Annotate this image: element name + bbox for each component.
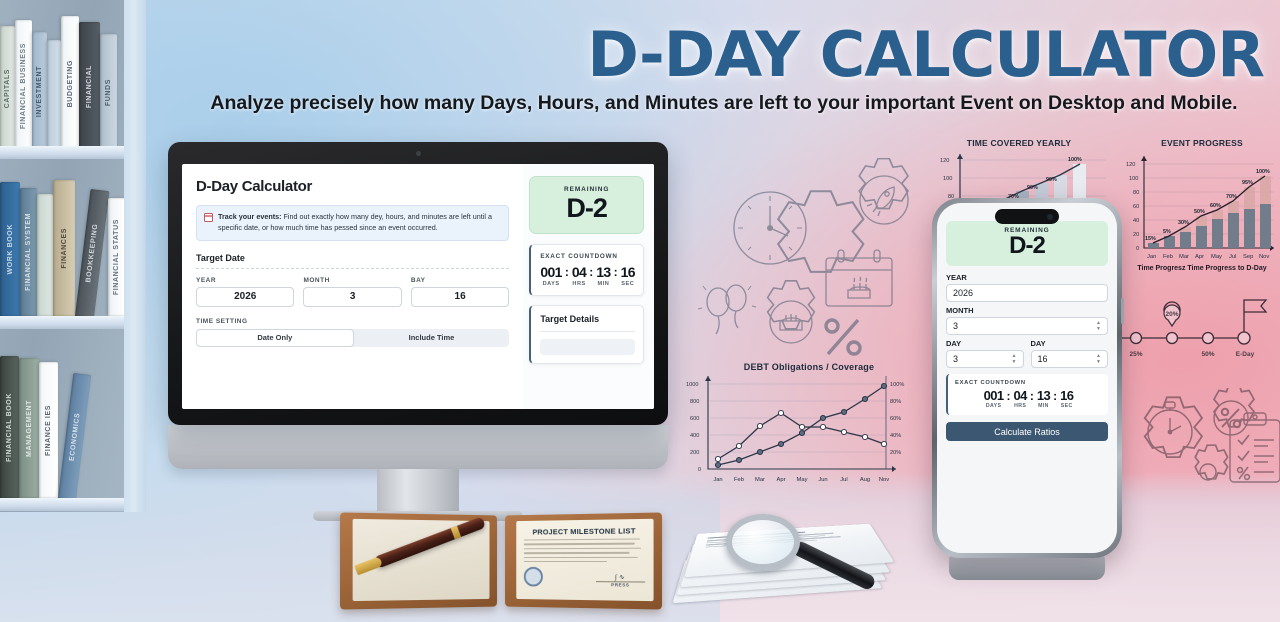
bar-label-3: 90% — [1027, 185, 1038, 191]
webcam-icon — [416, 151, 421, 156]
field-day: BAY 16 — [411, 277, 509, 307]
bookshelf: CAPITALS FINANCIAL BUSINESS INVESTMENT B… — [0, 0, 146, 512]
book: FINANCIAL — [79, 22, 100, 152]
bar-label-7: 100% — [1256, 169, 1270, 175]
ytick-20: 20 — [1133, 232, 1139, 238]
book: WORK BOOK — [0, 182, 20, 316]
calendar-icon — [204, 213, 213, 222]
countdown-seconds: 16 SEC — [621, 265, 635, 287]
balloons-icon — [698, 285, 756, 334]
doc-line — [524, 552, 630, 554]
calendar-cake-icon — [826, 250, 892, 306]
countdown-separator: : — [1006, 389, 1012, 403]
book: FINANCIAL SYSTEM — [20, 188, 37, 316]
bar-label-2: 30% — [1178, 220, 1189, 226]
countdown-separator: : — [588, 265, 594, 279]
countdown-row: 001 DAYS : 04 HRS : 13 — [540, 265, 635, 287]
mobile-countdown-minutes: 13 MIN — [1037, 389, 1050, 409]
toggle-include-time[interactable]: Include Time — [354, 329, 510, 347]
mobile-year-value: 2026 — [953, 288, 973, 298]
target-details-placeholder — [540, 339, 635, 355]
ytick-120: 120 — [940, 158, 949, 164]
countdown-value: 13 — [596, 265, 610, 279]
mobile-day-value-1: 3 — [953, 354, 958, 364]
target-details-title: Target Details — [540, 314, 635, 324]
mobile-day-field-1: DAY 3 ▲▼ — [946, 335, 1024, 368]
mobile-countdown-hours: 04 HRS — [1014, 389, 1027, 409]
chart-svg: 1000 800 600 400 200 0 100% 80% 60% 40% … — [682, 372, 910, 492]
ytick-120: 120 — [1126, 162, 1135, 168]
monitor-screen: D-Day Calculator Track your events: Find… — [182, 164, 654, 409]
xtick-2: Mar — [755, 477, 765, 483]
mobile-day-field-2: DAY 16 ▲▼ — [1031, 335, 1109, 368]
countdown-value: 04 — [1014, 389, 1027, 402]
shelf-board — [0, 146, 128, 159]
shelf-side-panel — [124, 0, 146, 512]
xtick-4: May — [1211, 254, 1222, 260]
countdown-separator: : — [1052, 389, 1058, 403]
monitor-chin — [168, 425, 668, 469]
monitor-bezel: D-Day Calculator Track your events: Find… — [168, 142, 668, 425]
chart-title: EVENT PROGRESS — [1124, 138, 1280, 148]
gear-icon — [1195, 445, 1227, 480]
ytick-100: 100 — [943, 176, 952, 182]
book: CAPITALS — [0, 26, 15, 152]
countdown-separator: : — [564, 265, 570, 279]
bars-lower — [1148, 204, 1271, 248]
phone-notch — [995, 209, 1059, 224]
ytick-80: 80 — [1133, 190, 1139, 196]
target-date-fields: YEAR 2026 MONTH 3 BAY 16 — [196, 277, 509, 307]
phone-body: REMAINING D-2 YEAR 2026 MONTH 3 ▲▼ DAY — [932, 198, 1122, 558]
mobile-countdown-card: EXACT COUNTDOWN 001 DAYS : 04 HRS : — [946, 374, 1108, 415]
bookshelf-row-bottom: FINANCIAL BOOK MANAGEMENT FINANCE IES EC… — [0, 348, 128, 498]
xtick-7: Nov — [1259, 254, 1269, 260]
countdown-suffix: DAYS — [984, 403, 1004, 409]
decor-icon-cluster-right — [1132, 388, 1280, 514]
countdown-days: 001 DAYS — [540, 265, 562, 287]
shelf-board — [0, 316, 128, 329]
countdown-suffix: MIN — [596, 281, 610, 287]
countdown-separator: : — [613, 265, 619, 279]
bookshelf-row-top: CAPITALS FINANCIAL BUSINESS INVESTMENT B… — [0, 18, 128, 152]
countdown-minutes: 13 MIN — [596, 265, 610, 287]
ytick-40: 40 — [1133, 218, 1139, 224]
target-date-label: Target Date — [196, 253, 509, 263]
document-title: PROJECT MILESTONE LIST — [524, 526, 645, 536]
ytick-400: 400 — [690, 433, 699, 439]
ytick-60: 60 — [1133, 204, 1139, 210]
field-year: YEAR 2026 — [196, 277, 294, 307]
magnifier-icon — [726, 514, 800, 570]
countdown-value: 16 — [621, 265, 635, 279]
book: MANAGEMENT — [19, 358, 39, 498]
divider — [540, 331, 635, 332]
timeline-node-eday — [1238, 332, 1250, 344]
book: INVESTMENT — [32, 32, 47, 152]
book: FUNDS — [100, 34, 117, 152]
countdown-label: EXACT COUNTDOWN — [540, 253, 635, 260]
poster-canvas: CAPITALS FINANCIAL BUSINESS INVESTMENT B… — [0, 0, 1280, 622]
clipboard-checklist-icon — [1230, 413, 1280, 482]
remaining-value: D-2 — [536, 195, 637, 222]
ytick-right-100: 100% — [890, 382, 904, 388]
mobile-remaining-card: REMAINING D-2 — [946, 221, 1108, 266]
timeline-pin-label: 20% — [1165, 311, 1178, 318]
milestone-timeline: 20% 25% 50% E-Day — [1108, 286, 1280, 370]
toggle-date-only[interactable]: Date Only — [196, 329, 354, 347]
doc-line — [524, 547, 642, 549]
chart-event-progress: EVENT PROGRESS 120 100 80 60 40 20 0 — [1124, 138, 1280, 278]
bar-label-1: 5% — [1163, 229, 1171, 235]
xtick-1: Feb — [734, 477, 744, 483]
notice-lead: Track your events: — [218, 212, 282, 221]
mobile-countdown-seconds: 16 SEC — [1060, 389, 1073, 409]
timeline-node — [1131, 333, 1142, 344]
phone-side-button[interactable] — [1121, 298, 1124, 324]
timeline-label-0: 25% — [1129, 351, 1142, 358]
field-month: MONTH 3 — [303, 277, 401, 307]
xtick-0: Jan — [1147, 254, 1156, 260]
doc-line — [524, 556, 638, 558]
day-input[interactable]: 16 — [411, 287, 509, 307]
time-setting-label: TIME SETTING — [196, 318, 509, 325]
book: FINANCIAL BUSINESS — [15, 20, 32, 152]
time-setting-toggle: Date Only Include Time — [196, 329, 509, 347]
xtick-4: May — [797, 477, 808, 483]
ytick-100: 100 — [1129, 176, 1138, 182]
rocket-in-gear-icon — [859, 159, 908, 225]
chart-svg: 120 100 80 60 40 20 0 — [1124, 148, 1280, 274]
timeline-label-2: 50% — [1201, 351, 1214, 358]
mobile-countdown-label: EXACT COUNTDOWN — [955, 380, 1102, 386]
mobile-day-value-2: 16 — [1038, 354, 1048, 364]
xtick-8: Nov — [879, 477, 889, 483]
chart-title: TIME COVERED YEARLY — [926, 138, 1112, 148]
countdown-value: 16 — [1060, 389, 1073, 402]
chart-debt-obligations: DEBT Obligations / Coverage 1000 800 600… — [682, 362, 910, 498]
stepper-icon[interactable]: ▲▼ — [1096, 354, 1101, 365]
cake-in-gear-icon — [768, 281, 815, 343]
mobile-day-row: DAY 3 ▲▼ DAY 16 ▲▼ — [946, 335, 1108, 368]
xtick-5: Jul — [1229, 254, 1236, 260]
bookshelf-row-mid: WORK BOOK FINANCIAL SYSTEM FINANCES BOOK… — [0, 176, 128, 316]
ytick-right-60: 60% — [890, 416, 901, 422]
book: FINANCES — [53, 180, 75, 316]
stepper-icon[interactable]: ▲▼ — [1012, 354, 1017, 365]
book: FINANCIAL STATUS — [108, 198, 125, 316]
countdown-suffix: MIN — [1037, 403, 1050, 409]
notice-text: Track your events: Find out exactly how … — [218, 212, 501, 234]
document-seal-icon — [524, 567, 543, 587]
flag-icon — [1244, 300, 1266, 332]
book: BOOKKEEPING — [75, 189, 109, 318]
milestone-document: PROJECT MILESTONE LIST ∫ ∿ PRESS — [516, 519, 653, 601]
divider — [196, 268, 509, 269]
desktop-app: D-Day Calculator Track your events: Find… — [182, 164, 654, 409]
track-events-notice: Track your events: Find out exactly how … — [196, 205, 509, 241]
shelf-board — [0, 498, 128, 511]
book: FINANCIAL BOOK — [0, 356, 19, 498]
field-label: YEAR — [196, 277, 294, 284]
countdown-separator: : — [1029, 389, 1035, 403]
stopwatch-in-gear-icon — [1145, 397, 1202, 457]
ytick-600: 600 — [690, 416, 699, 422]
desktop-monitor: D-Day Calculator Track your events: Find… — [168, 142, 668, 521]
folder-right-flap: PROJECT MILESTONE LIST ∫ ∿ PRESS — [505, 512, 662, 609]
doc-line — [524, 561, 608, 562]
mobile-countdown-days: 001 DAYS — [984, 389, 1004, 409]
doc-line — [524, 538, 640, 540]
countdown-value: 04 — [572, 265, 586, 279]
ytick-right-20: 20% — [890, 450, 901, 456]
mobile-day-input-2[interactable]: 16 ▲▼ — [1031, 350, 1109, 368]
field-label: BAY — [411, 277, 509, 284]
mobile-phone: REMAINING D-2 YEAR 2026 MONTH 3 ▲▼ DAY — [932, 198, 1122, 580]
countdown-hours: 04 HRS — [572, 265, 586, 287]
bar-label-3: 50% — [1194, 209, 1205, 215]
ytick-0: 0 — [698, 467, 701, 473]
xtick-6: Sep — [1243, 254, 1253, 260]
bar-label-6: 95% — [1242, 180, 1253, 186]
book — [37, 194, 53, 316]
folder-with-document: PROJECT MILESTONE LIST ∫ ∿ PRESS — [334, 506, 664, 616]
monitor-neck — [377, 469, 459, 511]
phone-screen: REMAINING D-2 YEAR 2026 MONTH 3 ▲▼ DAY — [937, 203, 1117, 553]
bar-label-5: 70% — [1226, 194, 1237, 200]
remaining-label: REMAINING — [536, 186, 637, 193]
front-camera-icon — [1047, 214, 1053, 220]
countdown-suffix: HRS — [1014, 403, 1027, 409]
calculate-ratios-button[interactable]: Calculate Ratios — [946, 422, 1108, 441]
mobile-day-label-2: DAY — [1031, 339, 1109, 348]
mobile-year-label: YEAR — [946, 273, 1108, 282]
book — [47, 40, 61, 152]
chart-caption: Time Progresz Time Progress to D-Day — [1137, 265, 1266, 272]
page-subtitle: Analyze precisely how many Days, Hours, … — [176, 92, 1272, 115]
mobile-countdown-row: 001 DAYS : 04 HRS : 13 MIN : — [955, 389, 1102, 409]
page-title: D-DAY CALCULATOR — [587, 24, 1264, 86]
year-input[interactable]: 2026 — [196, 287, 294, 307]
ytick-right-40: 40% — [890, 433, 901, 439]
bar-label-4: 60% — [1210, 203, 1221, 209]
xtick-1: Feb — [1163, 254, 1173, 260]
doc-line — [524, 543, 635, 545]
app-title: D-Day Calculator — [196, 178, 509, 195]
ytick-1000: 1000 — [686, 382, 698, 388]
countdown-suffix: HRS — [572, 281, 586, 287]
book: BUDGETING — [61, 16, 79, 152]
xtick-7: Aug — [860, 477, 870, 483]
timeline-label-eday: E-Day — [1236, 351, 1255, 358]
mobile-remaining-value: D-2 — [950, 234, 1104, 258]
timeline-node — [1203, 333, 1214, 344]
signature-label: PRESS — [596, 582, 645, 588]
bar-label-4: 90% — [1046, 177, 1057, 183]
ytick-800: 800 — [690, 399, 699, 405]
xtick-3: Apr — [1195, 254, 1204, 260]
chart-title: DEBT Obligations / Coverage — [682, 362, 910, 372]
app-right-panel: REMAINING D-2 EXACT COUNTDOWN 001 DAYS : — [523, 164, 654, 409]
percent-icon — [826, 320, 860, 354]
mobile-month-input[interactable]: 3 ▲▼ — [946, 317, 1108, 335]
mobile-day-input-1[interactable]: 3 ▲▼ — [946, 350, 1024, 368]
remaining-card: REMAINING D-2 — [529, 176, 644, 234]
countdown-suffix: SEC — [1060, 403, 1073, 409]
countdown-suffix: SEC — [621, 281, 635, 287]
countdown-value: 13 — [1037, 389, 1050, 402]
folder-left-flap — [340, 512, 497, 609]
countdown-value: 001 — [540, 265, 562, 279]
xtick-5: Jun — [818, 477, 827, 483]
decor-icon-cluster-left — [678, 158, 922, 362]
book: ECONOMICS — [58, 373, 91, 500]
percent-in-gear-icon — [1214, 388, 1254, 435]
bar-label-5: 100% — [1068, 157, 1082, 163]
mobile-day-label-1: DAY — [946, 339, 1024, 348]
papers-with-magnifier — [672, 500, 902, 616]
exact-countdown-card: EXACT COUNTDOWN 001 DAYS : 04 HRS — [529, 244, 644, 296]
ytick-200: 200 — [690, 450, 699, 456]
countdown-suffix: DAYS — [540, 281, 562, 287]
stepper-icon[interactable]: ▲▼ — [1096, 321, 1101, 332]
timeline-node — [1167, 333, 1178, 344]
book: FINANCE IES — [39, 362, 58, 498]
mobile-year-input[interactable]: 2026 — [946, 284, 1108, 302]
ytick-0: 0 — [1136, 246, 1139, 252]
ytick-right-80: 80% — [890, 399, 901, 405]
field-label: MONTH — [303, 277, 401, 284]
mobile-month-value: 3 — [953, 321, 958, 331]
app-left-panel: D-Day Calculator Track your events: Find… — [182, 164, 523, 409]
month-input[interactable]: 3 — [303, 287, 401, 307]
mobile-month-label: MONTH — [946, 306, 1108, 315]
xtick-2: Mar — [1179, 254, 1189, 260]
countdown-value: 001 — [984, 389, 1004, 402]
xtick-0: Jan — [713, 477, 722, 483]
xtick-6: Jul — [840, 477, 847, 483]
target-details-card: Target Details — [529, 305, 644, 364]
xtick-3: Apr — [776, 477, 785, 483]
bar-label-0: 15% — [1145, 236, 1156, 242]
